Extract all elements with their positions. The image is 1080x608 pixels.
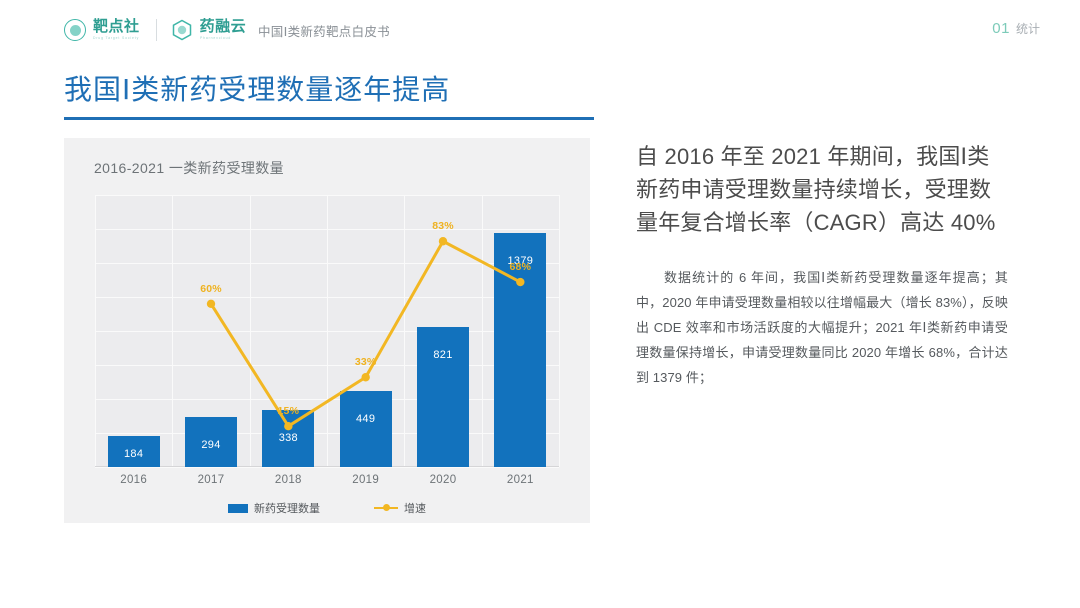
brand-primary-text: 靶点社 Drug Target Society [93,19,142,41]
pharnexcloud-logo-icon [171,19,193,41]
text-panel: 自 2016 年至 2021 年期间，我国Ⅰ类新药申请受理数量持续增长，受理数量… [636,140,1008,390]
chart-title: 2016-2021 一类新药受理数量 [94,158,284,178]
line-value-label: 60% [200,283,222,295]
brand-group: 靶点社 Drug Target Society 药融云 Pharnexcloud [64,14,246,46]
x-tick-2020: 2020 [430,474,457,486]
brand-secondary-en: Pharnexcloud [200,37,244,40]
line-value-label: 83% [432,220,454,232]
chart-legend: 新药受理数量 增速 [64,500,590,516]
line-value-label: 15% [278,405,300,417]
x-tick-2017: 2017 [198,474,225,486]
line-swatch-icon [374,504,398,513]
legend-label-line: 增速 [404,500,426,516]
gridline-vertical [559,195,560,467]
brand-primary-cn: 靶点社 [93,19,142,34]
document-title: 中国Ⅰ类新药靶点白皮书 [258,21,390,40]
section-indicator: 01 统计 [992,20,1040,37]
line-value-label: 33% [355,356,377,368]
page-header: 靶点社 Drug Target Society 药融云 Pharnexcloud… [0,0,1080,58]
chart-card: 2016-2021 一类新药受理数量 1842943384498211379 6… [64,138,590,523]
target-society-logo-icon [64,19,86,41]
bar-swatch-icon [228,504,248,513]
legend-item-bar[interactable]: 新药受理数量 [228,500,320,516]
legend-label-bar: 新药受理数量 [254,500,320,516]
brand-divider [156,19,157,41]
section-label: 统计 [1016,20,1040,37]
section-number: 01 [992,20,1010,37]
page-title: 我国Ⅰ类新药受理数量逐年提高 [64,68,450,108]
legend-item-line[interactable]: 增速 [374,500,426,516]
title-underline-rule [64,117,594,120]
body-paragraph: 数据统计的 6 年间，我国Ⅰ类新药受理数量逐年提高；其中，2020 年申请受理数… [636,265,1008,390]
brand-primary-en: Drug Target Society [93,37,139,40]
x-tick-2021: 2021 [507,474,534,486]
lead-paragraph: 自 2016 年至 2021 年期间，我国Ⅰ类新药申请受理数量持续增长，受理数量… [636,140,1008,239]
line-series-label-layer: 60%15%33%83%68% [95,195,559,467]
brand-secondary-cn: 药融云 [200,19,247,34]
gridline-horizontal [95,467,559,468]
logo-inner-circle [70,25,81,36]
chart-x-axis-labels: 201620172018201920202021 [95,474,559,494]
line-value-label: 68% [510,261,532,273]
x-tick-2019: 2019 [352,474,379,486]
x-tick-2018: 2018 [275,474,302,486]
x-tick-2016: 2016 [120,474,147,486]
brand-secondary-text: 药融云 Pharnexcloud [200,19,247,41]
